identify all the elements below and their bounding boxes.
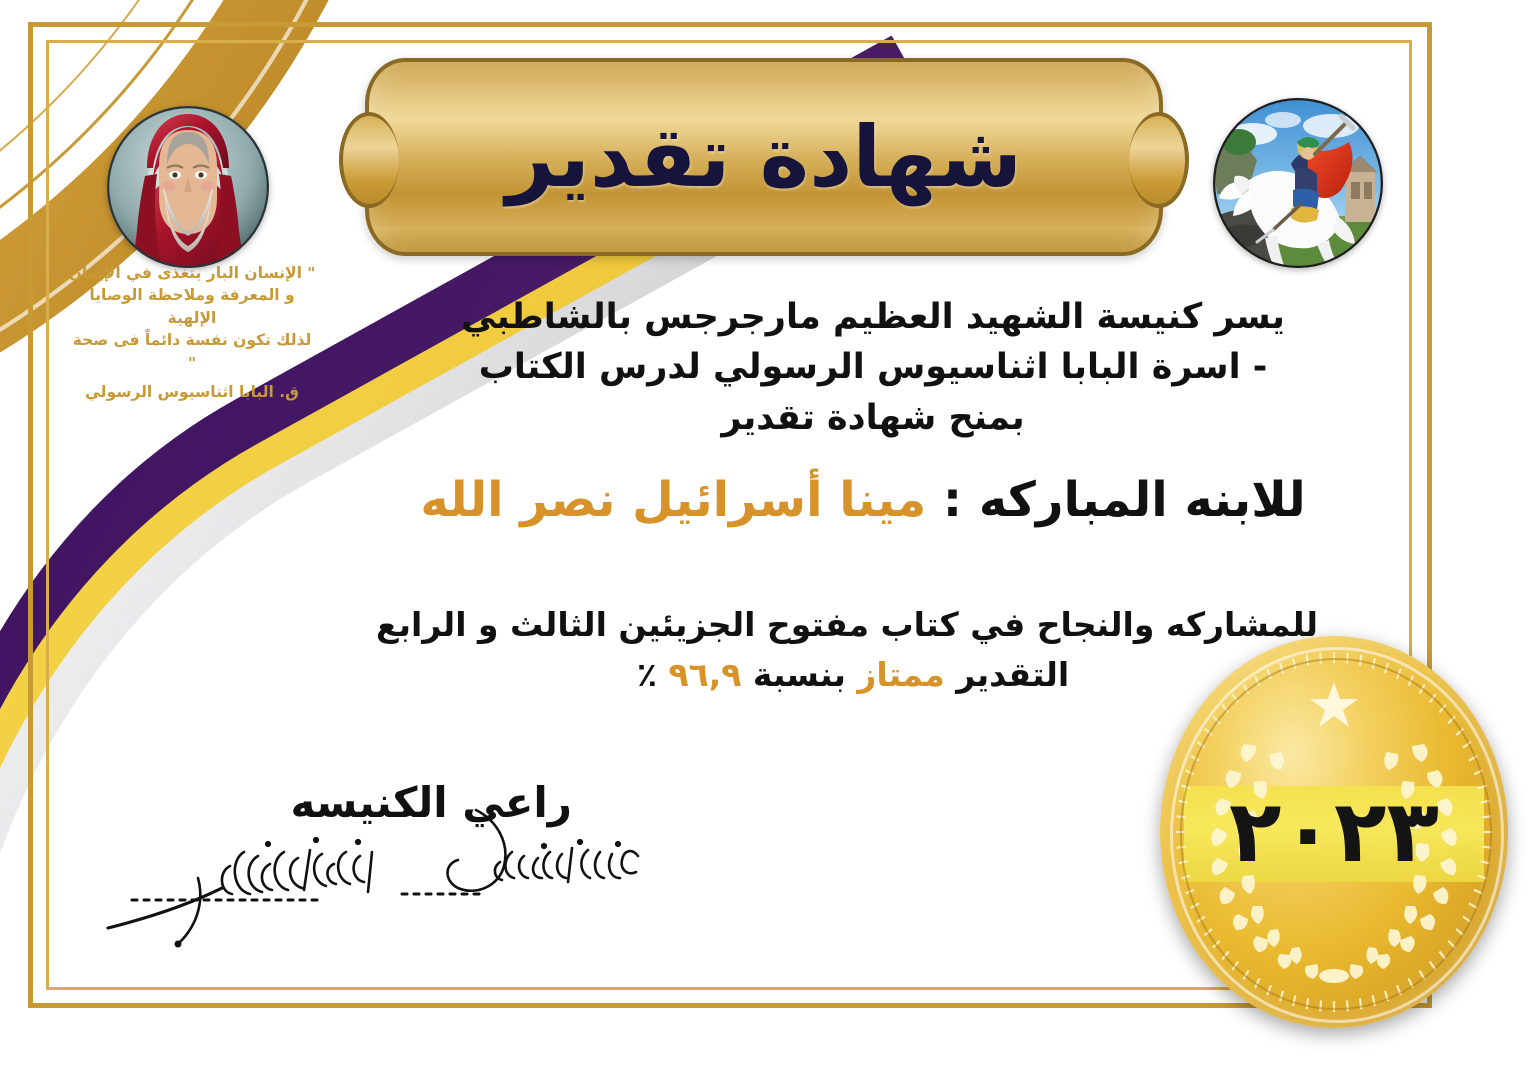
handwritten-signature-icon (72, 808, 672, 948)
saint-george-on-horseback-icon (1213, 98, 1383, 268)
saint-george-svg (1213, 98, 1383, 268)
quote-line-2: و المعرفة وملاحظة الوصايا الإلهية (66, 284, 318, 329)
certificate-canvas: شهادة تقدير (0, 0, 1528, 1080)
page-title: شهادة تقدير (369, 62, 1159, 252)
quote-block: " الإنسان البار يتغذى في الإيمان و المعر… (66, 262, 318, 404)
grade-prefix: التقدير (945, 655, 1069, 694)
body-line-3: بمنح شهادة تقدير (368, 393, 1378, 443)
quote-line-1: " الإنسان البار يتغذى في الإيمان (66, 262, 318, 284)
title-plaque-wrapper: شهادة تقدير (365, 58, 1155, 248)
recipient-line: للابنه المباركه : مينا أسرائيل نصر الله (363, 472, 1363, 528)
saint-athanasius-portrait-icon (107, 106, 269, 268)
quote-attribution: ق. البابا اثناسيوس الرسولي (66, 381, 318, 403)
body-text-block: يسر كنيسة الشهيد العظيم مارجرجس بالشاطبي… (368, 292, 1378, 443)
recipient-prefix: للابنه المباركه : (926, 472, 1305, 528)
percent-symbol: ٪ (637, 655, 669, 694)
grade-mid: بنسبة (741, 655, 857, 694)
quote-line-3: لذلك تكون نفسة دائماً فى صحة " (66, 329, 318, 374)
body-line-2: - اسرة البابا اثناسيوس الرسولي لدرس الكت… (368, 342, 1378, 392)
percent-value: ٩٦,٩ (668, 655, 741, 694)
title-plaque: شهادة تقدير (365, 58, 1163, 256)
body-line-1: يسر كنيسة الشهيد العظيم مارجرجس بالشاطبي (368, 292, 1378, 342)
seal-year: ٢٠٢٣ (1160, 636, 1508, 1028)
grade-value: ممتاز (857, 655, 944, 694)
signature-block: راعي الكنيسه (72, 778, 672, 948)
saint-athanasius-svg (107, 106, 269, 268)
gold-medal-seal-icon: ٢٠٢٣ (1160, 636, 1508, 1028)
recipient-name: مينا أسرائيل نصر الله (420, 472, 926, 528)
seal-body: ٢٠٢٣ (1160, 636, 1508, 1028)
